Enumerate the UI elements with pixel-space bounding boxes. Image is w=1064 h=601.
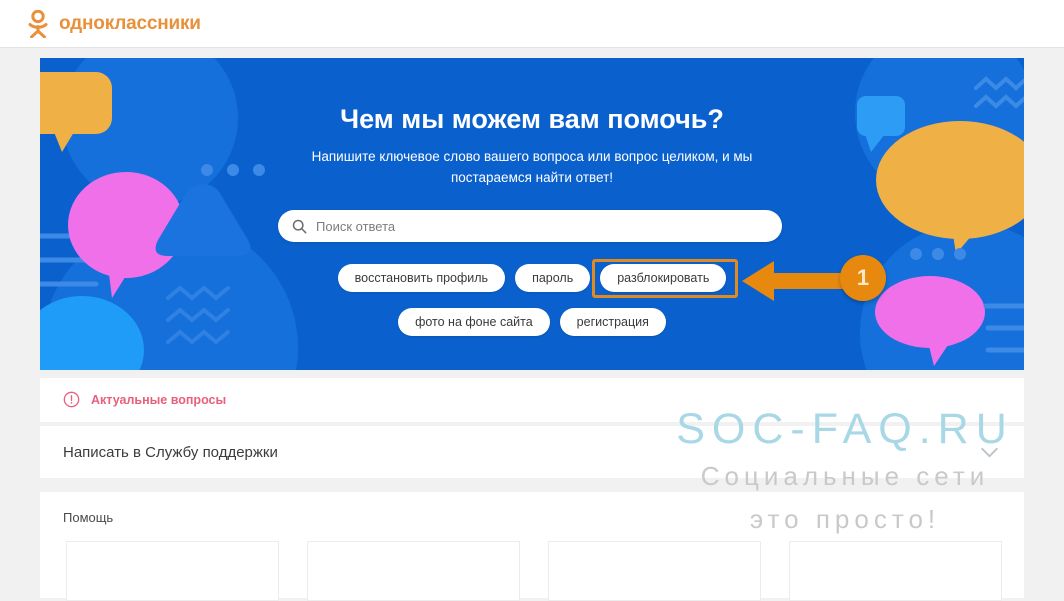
banner-title: Чем мы можем вам помочь? [40,104,1024,135]
support-row[interactable]: Написать в Службу поддержки [40,426,1024,478]
help-card: Помощь [40,492,1024,598]
search-placeholder: Поиск ответа [316,219,395,234]
left-arrow-icon [740,261,852,301]
support-label: Написать в Службу поддержки [63,444,278,461]
chip-registration[interactable]: регистрация [560,308,666,336]
site-logo-text: одноклассники [59,10,201,38]
search-icon [292,219,307,234]
step-number-badge: 1 [840,255,886,301]
chip-photo-background[interactable]: фото на фоне сайта [398,308,550,336]
exclamation-circle-icon [63,391,80,408]
help-tiles [40,525,1024,601]
support-card: Написать в Службу поддержки [40,426,1024,478]
suggestion-chips-row-2: фото на фоне сайта регистрация [40,308,1024,336]
actual-questions-card: Актуальные вопросы [40,378,1024,422]
help-title: Помощь [40,492,1024,525]
actual-questions-header: Актуальные вопросы [40,378,1024,408]
search-input[interactable]: Поиск ответа [278,210,782,242]
chevron-down-icon[interactable] [980,447,999,458]
help-tile[interactable] [789,541,1002,601]
help-banner: Чем мы можем вам помочь? Напишите ключев… [40,58,1024,370]
chip-password[interactable]: пароль [515,264,590,292]
ok-logo-icon [26,10,50,38]
actual-questions-label: Актуальные вопросы [91,393,226,407]
help-tile[interactable] [548,541,761,601]
site-logo[interactable]: одноклассники [26,10,201,38]
chip-restore-profile[interactable]: восстановить профиль [338,264,505,292]
help-tile[interactable] [307,541,520,601]
help-tile[interactable] [66,541,279,601]
banner-subtitle: Напишите ключевое слово вашего вопроса и… [272,146,792,188]
chip-unblock[interactable]: разблокировать [600,264,726,292]
top-bar: одноклассники [0,0,1064,48]
